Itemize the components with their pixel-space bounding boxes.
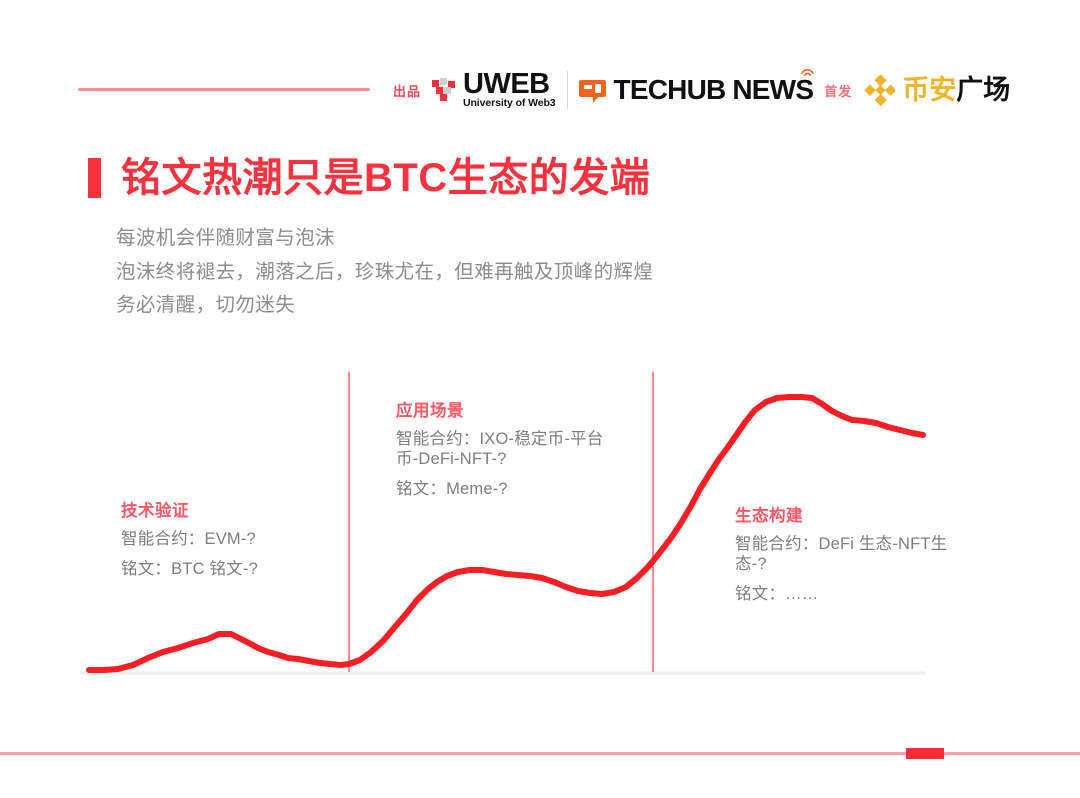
annotation-line: 铭文：Meme-? (396, 479, 656, 499)
produced-by-label: 出品 (393, 81, 421, 100)
annotation-title: 技术验证 (121, 503, 381, 520)
annotation-line: 铭文：BTC 铭文-? (121, 559, 381, 579)
annotation-title: 应用场景 (396, 403, 656, 420)
trend-chart (0, 0, 1080, 798)
annotation-line: 智能合约：IXO-稳定币-平台币-DeFi-NFT-? (396, 429, 611, 469)
subtitle-line-1: 每波机会伴随财富与泡沫 (116, 225, 836, 253)
binance-square-logo[interactable]: 币安广场 (863, 74, 1010, 106)
annotation-line: 智能合约：DeFi 生态-NFT生态-? (735, 534, 950, 574)
subtitle-block: 每波机会伴随财富与泡沫 泡沫终将褪去，潮落之后，珍珠尤在，但难再触及顶峰的辉煌 … (116, 225, 836, 326)
annotation-tech-validation: 技术验证 智能合约：EVM-? 铭文：BTC 铭文-? (121, 503, 381, 589)
subtitle-line-3: 务必清醒，切勿迷失 (116, 292, 836, 320)
uweb-pixel-logo-icon (432, 78, 457, 102)
brand-divider (567, 71, 568, 109)
binance-wordmark: 币安广场 (902, 77, 1010, 104)
red-bar-marker-icon (88, 158, 101, 198)
annotation-line: 智能合约：EVM-? (121, 529, 381, 549)
uweb-logo[interactable]: UWEB University of Web3 (432, 71, 556, 110)
header-accent-rule (78, 88, 370, 91)
techub-logo[interactable]: TECHUB NEWS (579, 76, 814, 104)
techub-wifi-icon (801, 67, 814, 77)
first-release-label: 首发 (824, 81, 852, 100)
footer-accent-block (906, 748, 944, 759)
slide-root: 出品 UWEB University of Web3 (0, 0, 1080, 798)
techub-speech-bubble-icon (579, 78, 607, 102)
binance-diamond-icon (863, 74, 895, 106)
brand-bar: 出品 UWEB University of Web3 (393, 62, 1010, 118)
subtitle-line-2: 泡沫终将褪去，潮落之后，珍珠尤在，但难再触及顶峰的辉煌 (116, 259, 836, 287)
annotation-ecosystem-building: 生态构建 智能合约：DeFi 生态-NFT生态-? 铭文：…… (735, 508, 995, 614)
annotation-line: 铭文：…… (735, 584, 995, 604)
annotation-title: 生态构建 (735, 508, 995, 525)
page-title-text: 铭文热潮只是BTC生态的发端 (121, 158, 650, 198)
techub-wordmark: TECHUB NEWS (614, 76, 814, 104)
annotation-application-scenarios: 应用场景 智能合约：IXO-稳定币-平台币-DeFi-NFT-? 铭文：Meme… (396, 403, 656, 509)
uweb-tagline: University of Web3 (463, 97, 556, 109)
page-title: 铭文热潮只是BTC生态的发端 (88, 158, 650, 198)
uweb-wordmark: UWEB (463, 71, 556, 98)
